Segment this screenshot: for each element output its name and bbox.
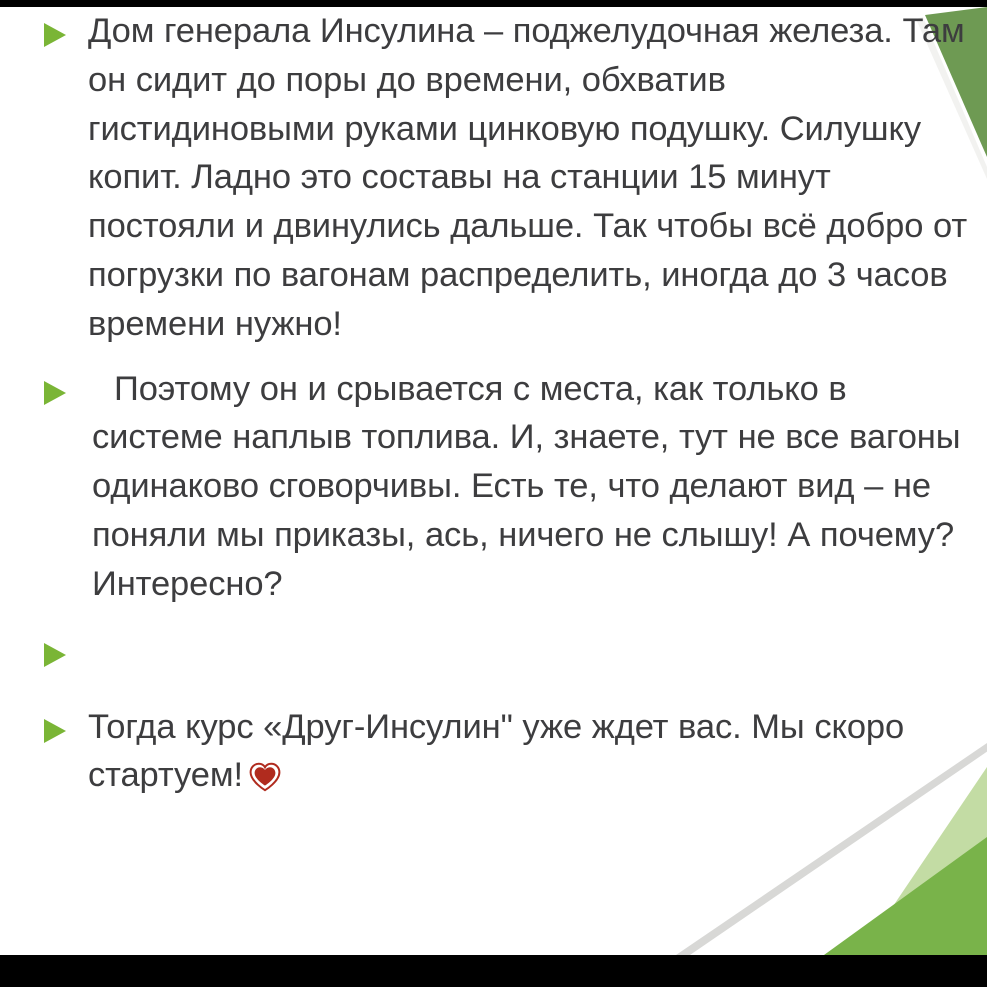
list-item: Тогда курс «Друг-Инсулин" уже ждет вас. …	[0, 703, 987, 801]
bottom-letterbox-bar	[0, 955, 987, 987]
slide-content: Дом генерала Инсулина – поджелудочная же…	[0, 7, 987, 955]
list-item-empty	[0, 627, 987, 675]
bullet-paragraph-3	[72, 627, 987, 675]
top-letterbox-bar	[0, 0, 987, 7]
list-item: Дом генерала Инсулина – поджелудочная же…	[0, 7, 987, 349]
bullet-paragraph-1: Дом генерала Инсулина – поджелудочная же…	[88, 7, 987, 349]
presentation-slide: Дом генерала Инсулина – поджелудочная же…	[0, 7, 987, 955]
list-item: Поэтому он и срывается с места, как толь…	[0, 365, 987, 609]
bullet-paragraph-4-wrapper: Тогда курс «Друг-Инсулин" уже ждет вас. …	[88, 703, 987, 801]
bullet-paragraph-4: Тогда курс «Друг-Инсулин" уже ждет вас. …	[88, 708, 904, 795]
triangle-right-bullet-icon	[42, 379, 72, 407]
triangle-right-bullet-icon	[42, 717, 72, 745]
triangle-right-bullet-icon	[42, 21, 72, 49]
triangle-right-bullet-icon	[42, 641, 72, 669]
bullet-paragraph-2: Поэтому он и срывается с места, как толь…	[92, 365, 987, 609]
growing-heart-emoji	[249, 762, 281, 792]
screenshot-root: Дом генерала Инсулина – поджелудочная же…	[0, 0, 987, 987]
